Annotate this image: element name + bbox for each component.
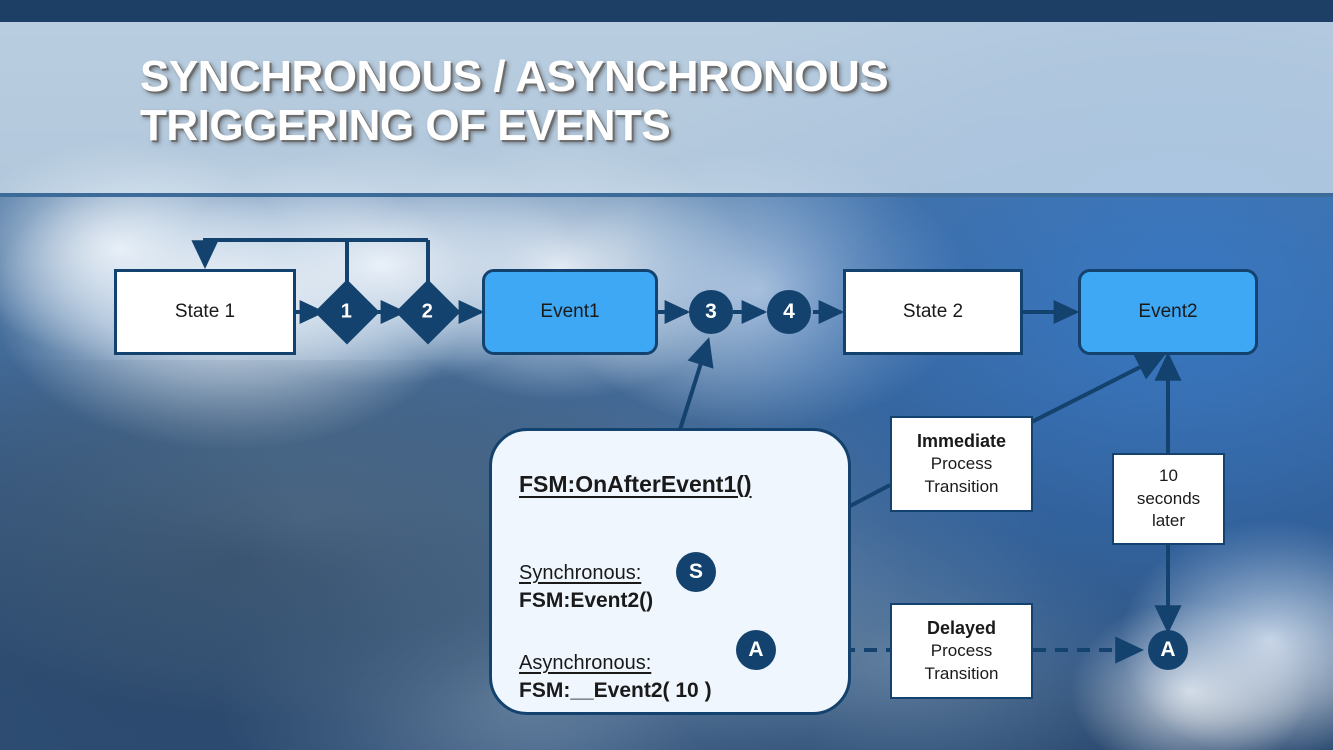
state-1-label: State 1	[175, 301, 235, 323]
async-marker-circle[interactable]: A	[736, 630, 776, 670]
asynchronous-label: Asynchronous:	[519, 652, 651, 675]
event-1-box[interactable]: Event1	[482, 269, 658, 355]
immediate-note-line-1: Immediate	[917, 430, 1006, 454]
step-circle-4[interactable]: 4	[767, 290, 811, 334]
sync-marker-label: S	[689, 560, 703, 584]
timer-note-line-2: seconds	[1137, 488, 1200, 510]
callout-heading: FSM:OnAfterEvent1()	[519, 471, 752, 498]
synchronous-label: Synchronous:	[519, 562, 641, 585]
async-marker-label: A	[748, 638, 763, 662]
delayed-note-line-1: Delayed	[927, 617, 996, 641]
timer-note-line-1: 10	[1159, 465, 1178, 487]
event-2-label: Event2	[1138, 301, 1197, 323]
fsm-callout-panel[interactable]: FSM:OnAfterEvent1() Synchronous: FSM:Eve…	[489, 428, 851, 715]
immediate-note-line-2: Process	[931, 453, 992, 475]
decision-diamond-2-label: 2	[422, 301, 433, 324]
state-2-box[interactable]: State 2	[843, 269, 1023, 355]
immediate-note-box[interactable]: Immediate Process Transition	[890, 416, 1033, 512]
step-circle-4-label: 4	[783, 300, 795, 324]
timer-note-box[interactable]: 10 seconds later	[1112, 453, 1225, 545]
delayed-note-line-3: Transition	[924, 663, 998, 685]
delayed-marker-label: A	[1160, 638, 1175, 662]
slide-canvas: SYNCHRONOUS / ASYNCHRONOUS TRIGGERING OF…	[0, 0, 1333, 750]
state-1-box[interactable]: State 1	[114, 269, 296, 355]
event-1-label: Event1	[540, 301, 599, 323]
synchronous-code: FSM:Event2()	[519, 589, 653, 613]
timer-note-line-3: later	[1152, 510, 1185, 532]
event-2-box[interactable]: Event2	[1078, 269, 1258, 355]
sync-marker-circle[interactable]: S	[676, 552, 716, 592]
delayed-marker-circle[interactable]: A	[1148, 630, 1188, 670]
state-2-label: State 2	[903, 301, 963, 323]
delayed-note-line-2: Process	[931, 640, 992, 662]
delayed-note-box[interactable]: Delayed Process Transition	[890, 603, 1033, 699]
immediate-note-line-3: Transition	[924, 476, 998, 498]
step-circle-3-label: 3	[705, 300, 717, 324]
asynchronous-code: FSM:__Event2( 10 )	[519, 679, 712, 703]
decision-diamond-1-label: 1	[341, 301, 352, 324]
step-circle-3[interactable]: 3	[689, 290, 733, 334]
